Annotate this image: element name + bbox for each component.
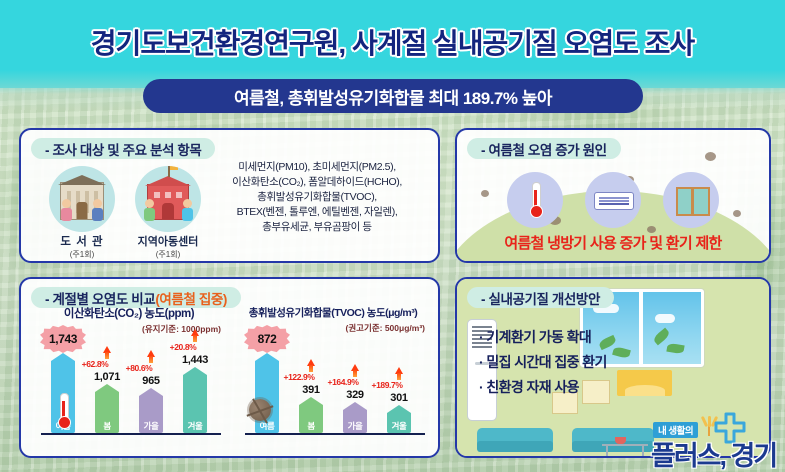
facility-name: 지역아동센터 (129, 233, 207, 249)
chart-co2: 이산화탄소(CO₂) 농도(ppm) (유지기준: 1000ppm) 여름1,7… (29, 305, 229, 451)
chart-title: 총휘발성유기화합물(TVOC) 농도(μg/m³) (233, 305, 433, 320)
spore-icon (705, 152, 716, 161)
mold-spore-icon (249, 399, 271, 421)
chart-plot-area: 여름872봄391+122.9%가을329+164.9%겨울301+189.7% (241, 343, 425, 435)
subtitle-text: 여름철, 총휘발성유기화합물 최대 189.7% 높아 (234, 84, 552, 109)
improve-panel-heading: - 실내공기질 개선방안 (467, 287, 614, 308)
increase-arrow-icon (103, 346, 112, 359)
chart-value-label: 1,443 (174, 354, 216, 366)
survey-panel-heading: - 조사 대상 및 주요 분석 항목 (31, 138, 215, 159)
increase-arrow-icon (351, 364, 360, 377)
chart-delta-label: +80.6% (117, 363, 161, 373)
chart-category-label: 겨울 (183, 420, 207, 432)
child-figure (61, 199, 72, 221)
cause-icon-row (457, 172, 769, 228)
chart-bar: 봄 (95, 385, 119, 433)
air-conditioner-icon (585, 172, 641, 228)
chart-tvoc: 총휘발성유기화합물(TVOC) 농도(μg/m³) (권고기준: 500μg/m… (233, 305, 433, 451)
chart-plot-area: 여름1,743봄1,071+62.8%가을965+80.6%겨울1,443+20… (37, 343, 221, 435)
chart-category-label: 가을 (139, 420, 163, 432)
improve-bullet: · 기계환기 가동 확대 (479, 325, 607, 350)
chart-delta-label: +122.9% (277, 372, 321, 382)
facility-name: 도 서 관 (43, 233, 121, 249)
window-icon (663, 172, 719, 228)
cause-caption: 여름철 냉방기 사용 증가 및 환기 제한 (457, 232, 769, 253)
chart-bar: 가을 (343, 403, 367, 433)
thermometer-icon (58, 393, 69, 429)
child-figure (92, 199, 103, 221)
infographic-root: 경기도보건환경연구원, 사계절 실내공기질 오염도 조사 여름철, 총휘발성유기… (0, 0, 785, 472)
facility-community-center: 지역아동센터 (주1회) (129, 166, 207, 260)
gyeonggi-logo: 내 생활의 플러스, 경기 (651, 408, 779, 470)
analysis-item-line: 총휘발성유기화합물(TVOC), (203, 190, 431, 205)
chart-value-label: 965 (130, 375, 172, 387)
wall-picture (617, 370, 672, 396)
improve-bullet: · 친환경 자재 사용 (479, 375, 607, 400)
increase-arrow-icon (307, 359, 316, 372)
analysis-items-list: 미세먼지(PM10), 초미세먼지(PM2.5), 이산화탄소(CO₂), 폼알… (203, 160, 431, 235)
child-figure (144, 199, 155, 221)
improve-bullet-list: · 기계환기 가동 확대 · 밀집 시간대 집중 환기 · 친환경 자재 사용 (479, 325, 607, 400)
chart-highlight-value: 872 (244, 325, 290, 353)
thermometer-icon (507, 172, 563, 228)
analysis-item-line: 미세먼지(PM10), 초미세먼지(PM2.5), (203, 160, 431, 175)
facility-library: 도 서 관 (주1회) (43, 166, 121, 260)
increase-arrow-icon (395, 367, 404, 380)
facility-frequency: (주1회) (43, 249, 121, 260)
cause-panel-heading: - 여름철 오염 증가 원인 (467, 138, 621, 159)
chart-value-label: 301 (378, 392, 420, 404)
increase-arrow-icon (147, 350, 156, 363)
chart-delta-label: +62.8% (73, 359, 117, 369)
cause-panel: - 여름철 오염 증가 원인 여름철 냉방기 사용 증가 및 환기 제한 (455, 128, 771, 263)
chart-highlight-value: 1,743 (40, 325, 86, 353)
chart-panel: - 계절별 오염도 비교 (여름철 집중) 이산화탄소(CO₂) 농도(ppm)… (19, 277, 440, 458)
chart-delta-label: +20.8% (161, 342, 205, 352)
chart-category-label: 봄 (299, 420, 323, 432)
chart-baseline (41, 433, 221, 435)
chart-delta-label: +164.9% (321, 377, 365, 387)
sofa (477, 428, 553, 452)
library-icon (49, 166, 115, 232)
facility-frequency: (주1회) (129, 249, 207, 260)
analysis-item-line: 이산화탄소(CO₂), 폼알데하이드(HCHO), (203, 175, 431, 190)
chart-delta-label: +189.7% (365, 380, 409, 390)
survey-panel: - 조사 대상 및 주요 분석 항목 도 서 관 ( (19, 128, 440, 263)
page-title: 경기도보건환경연구원, 사계절 실내공기질 오염도 조사 (0, 22, 785, 62)
chart-value-label: 329 (334, 389, 376, 401)
chart-bar: 겨울 (183, 368, 207, 433)
improve-bullet: · 밀집 시간대 집중 환기 (479, 350, 607, 375)
analysis-item-line: 총부유세균, 부유곰팡이 등 (203, 220, 431, 235)
chart-bar: 가을 (139, 389, 163, 433)
chart-category-label: 겨울 (387, 420, 411, 432)
logo-main-text: 플러스, 경기 (651, 434, 776, 472)
chart-category-label: 가을 (343, 420, 367, 432)
increase-arrow-icon (191, 329, 200, 342)
community-center-icon (135, 166, 201, 232)
chart-bar: 봄 (299, 398, 323, 433)
subtitle-banner: 여름철, 총휘발성유기화합물 최대 189.7% 높아 (143, 79, 643, 113)
table (602, 444, 648, 447)
chart-bar: 겨울 (387, 406, 411, 433)
child-figure (182, 199, 193, 221)
chart-title: 이산화탄소(CO₂) 농도(ppm) (29, 305, 229, 321)
analysis-item-line: BTEX(벤젠, 톨루엔, 에틸벤젠, 자일렌), (203, 205, 431, 220)
chart-category-label: 봄 (95, 420, 119, 432)
teapot (615, 437, 626, 444)
chart-baseline (245, 433, 425, 435)
